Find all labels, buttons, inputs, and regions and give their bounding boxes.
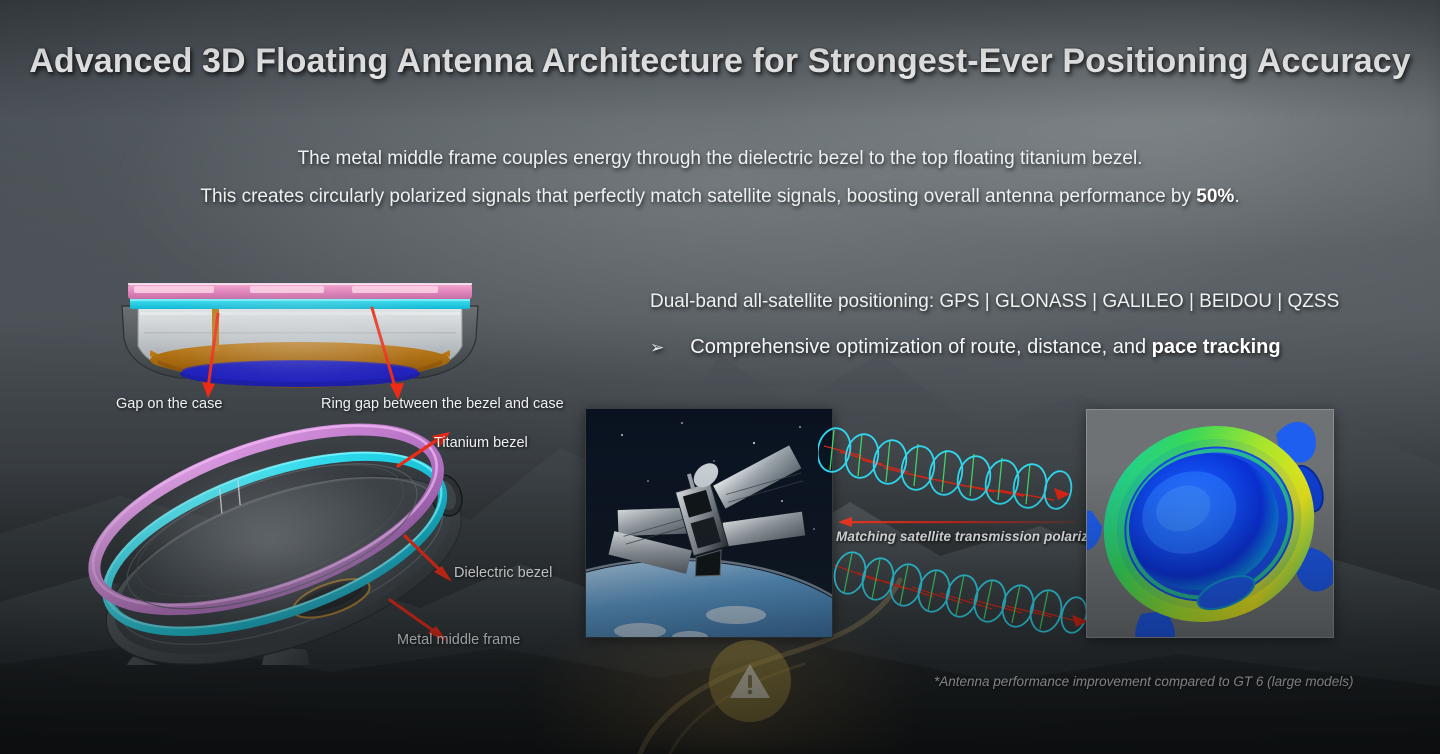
satellite-image-panel	[585, 408, 833, 638]
callout-titanium-bezel: Titanium bezel	[434, 435, 528, 451]
feature-bullet-text: Comprehensive optimization of route, dis…	[690, 336, 1280, 359]
satellite-illustration	[586, 409, 833, 638]
callout-gap-on-case: Gap on the case	[116, 396, 222, 412]
feature-bullet-prefix: Comprehensive optimization of route, dis…	[690, 336, 1151, 358]
callout-metal-middle-frame: Metal middle frame	[397, 632, 520, 648]
subtitle-line-2: This creates circularly polarized signal…	[0, 181, 1440, 213]
satellite-systems-line: Dual-band all-satellite positioning: GPS…	[650, 291, 1339, 313]
callout-ring-gap: Ring gap between the bezel and case	[321, 396, 564, 412]
polarization-helix-top	[818, 412, 1094, 524]
feature-bullet-highlight: pace tracking	[1152, 336, 1281, 358]
warning-triangle-icon	[728, 661, 772, 701]
watch-cross-section-diagram	[100, 278, 500, 403]
slide-title: Advanced 3D Floating Antenna Architectur…	[0, 42, 1440, 81]
current-density-render	[1087, 410, 1334, 638]
feature-bullet: ➢ Comprehensive optimization of route, d…	[650, 336, 1281, 359]
callout-dielectric-bezel: Dielectric bezel	[454, 565, 552, 581]
slide-subtitle: The metal middle frame couples energy th…	[0, 143, 1440, 213]
ring-3d-glow	[78, 432, 478, 652]
subtitle-line-1: The metal middle frame couples energy th…	[298, 148, 1143, 169]
footnote-text: *Antenna performance improvement compare…	[934, 674, 1353, 689]
polarization-match-arrow	[838, 515, 1076, 529]
arrow-bullet-icon: ➢	[650, 339, 664, 356]
subtitle-line-2-suffix: .	[1234, 186, 1239, 207]
watch-ring-3d-diagram	[60, 420, 500, 665]
polarization-match-caption: Matching satellite transmission polariza…	[836, 529, 1121, 544]
antenna-simulation-panel	[1086, 409, 1334, 638]
cross-section-glow	[110, 284, 490, 384]
subtitle-line-2-prefix: This creates circularly polarized signal…	[200, 186, 1196, 207]
performance-gain-value: 50%	[1196, 186, 1234, 207]
warning-badge	[709, 640, 791, 722]
polarization-helix-bottom	[826, 543, 1102, 647]
presentation-slide: Advanced 3D Floating Antenna Architectur…	[0, 0, 1440, 754]
